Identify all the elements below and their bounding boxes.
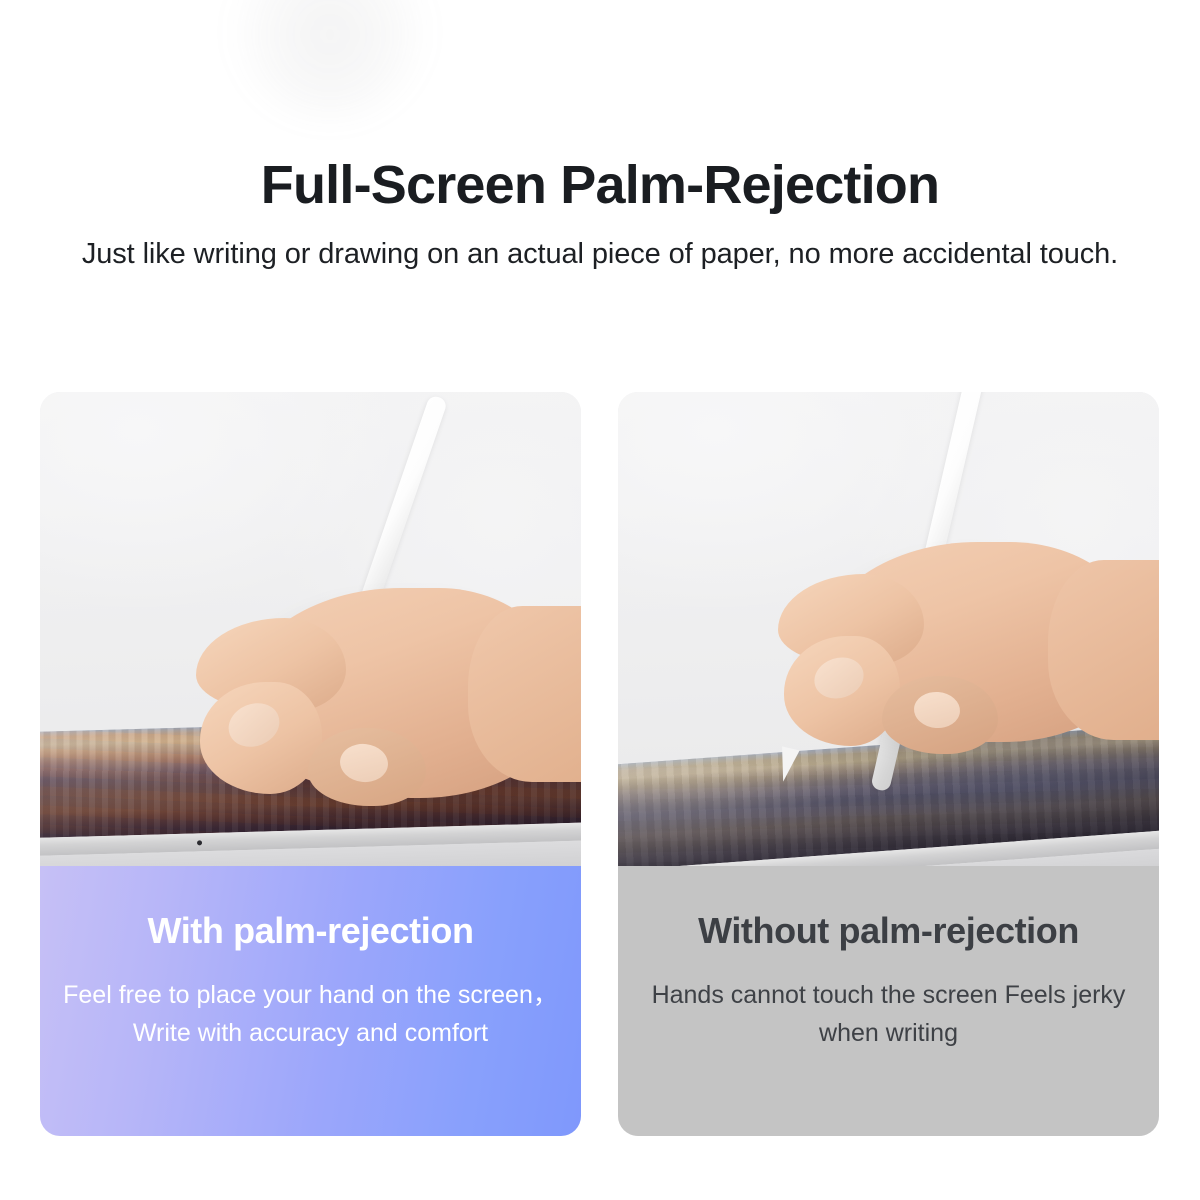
card-without-palm-rejection[interactable]: Without palm-rejection Hands cannot touc… bbox=[618, 392, 1159, 1136]
caption-without-palm-rejection: Without palm-rejection Hands cannot touc… bbox=[618, 866, 1159, 1136]
caption-with-palm-rejection: With palm-rejection Feel free to place y… bbox=[40, 866, 581, 1136]
painting-artwork-warm bbox=[40, 716, 581, 839]
photo-without-palm-rejection bbox=[618, 392, 1159, 866]
caption-body-without: Hands cannot touch the screen Feels jerk… bbox=[640, 952, 1137, 1052]
comparison-cards: With palm-rejection Feel free to place y… bbox=[40, 392, 1160, 1136]
tablet-camera-dot bbox=[197, 840, 202, 845]
caption-body-with: Feel free to place your hand on the scre… bbox=[62, 952, 559, 1052]
tablet-screen-left bbox=[40, 716, 581, 839]
photo-with-palm-rejection bbox=[40, 392, 581, 866]
header: Full-Screen Palm-Rejection Just like wri… bbox=[0, 0, 1200, 276]
page-subtitle: Just like writing or drawing on an actua… bbox=[0, 216, 1200, 276]
caption-title-with: With palm-rejection bbox=[62, 866, 559, 952]
tablet-device-left bbox=[40, 716, 581, 866]
caption-title-without: Without palm-rejection bbox=[640, 866, 1137, 952]
page-title: Full-Screen Palm-Rejection bbox=[0, 0, 1200, 216]
card-with-palm-rejection[interactable]: With palm-rejection Feel free to place y… bbox=[40, 392, 581, 1136]
